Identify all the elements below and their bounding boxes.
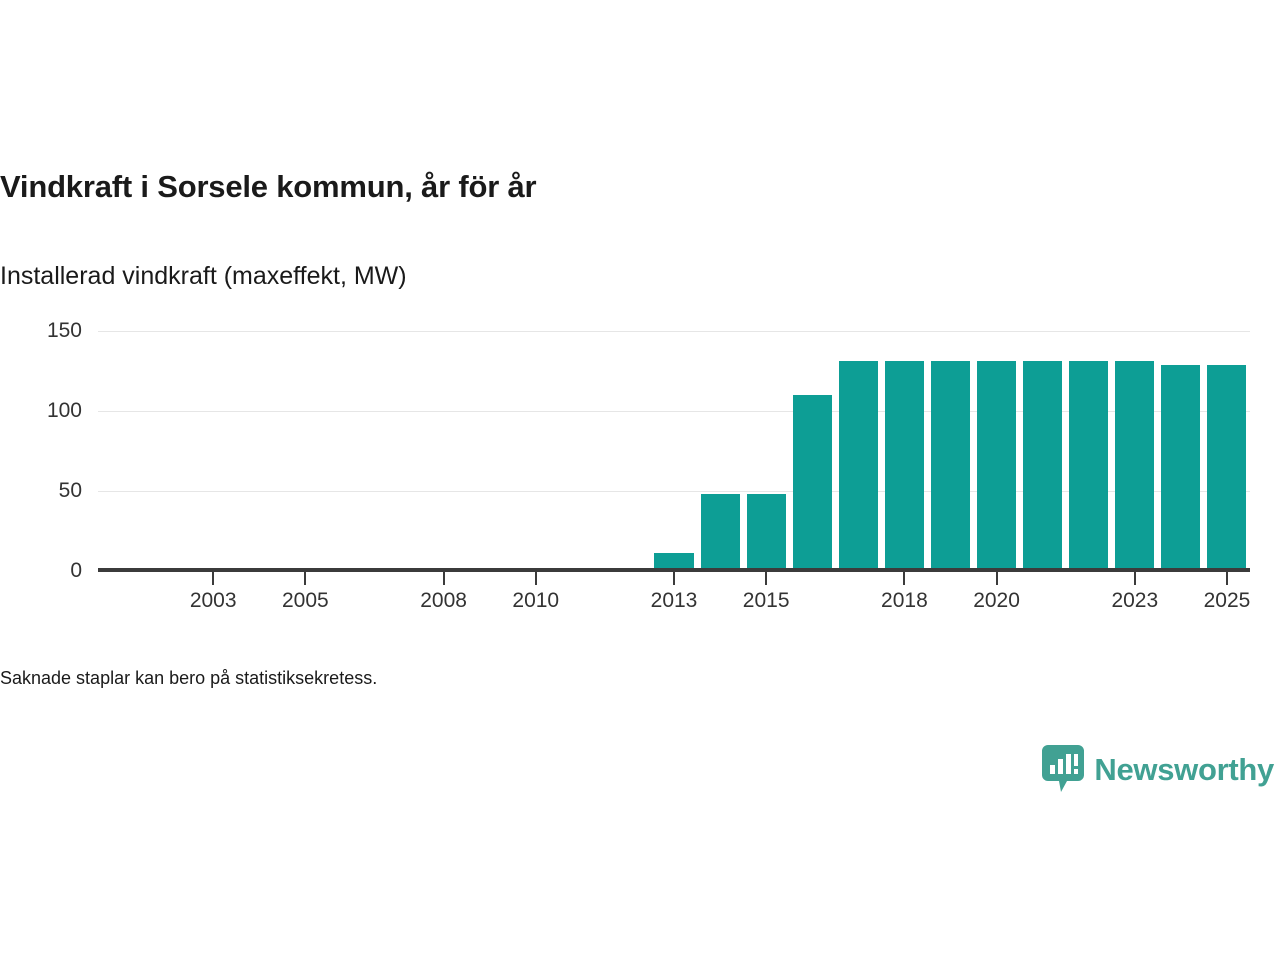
x-axis-tick-2005 [304,572,306,585]
bar-series [98,331,1250,571]
plot-area [98,331,1250,571]
x-axis-tick-label-2020: 2020 [973,588,1020,613]
x-axis-tick-label-2015: 2015 [743,588,790,613]
x-axis-tick-label-2003: 2003 [190,588,237,613]
bar-2022[interactable] [1069,361,1108,571]
x-axis-tick-label-2025: 2025 [1204,588,1251,613]
chart-page: Vindkraft i Sorsele kommun, år för år In… [0,0,1280,960]
bar-2014[interactable] [701,494,740,571]
y-axis-tick-label: 0 [0,560,82,581]
newsworthy-logo[interactable]: Newsworthy [1042,745,1274,793]
bar-2016[interactable] [793,395,832,571]
x-axis-tick-2010 [535,572,537,585]
x-axis-tick-2015 [765,572,767,585]
bar-2023[interactable] [1115,361,1154,571]
x-axis-tick-2003 [212,572,214,585]
bar-2021[interactable] [1023,361,1062,571]
bar-2017[interactable] [839,361,878,571]
x-axis-tick-label-2010: 2010 [512,588,559,613]
x-axis-tick-label-2013: 2013 [651,588,698,613]
x-axis-tick-2008 [443,572,445,585]
x-axis-tick-label-2023: 2023 [1111,588,1158,613]
bar-2025[interactable] [1207,365,1246,571]
x-axis-tick-2020 [996,572,998,585]
x-axis-tick-label-2008: 2008 [420,588,467,613]
x-axis-tick-2013 [673,572,675,585]
x-axis-tick-label-2005: 2005 [282,588,329,613]
bar-chart-speech-bubble-icon [1042,745,1084,793]
bar-chart: 050100150 200320052008201020132015201820… [0,315,1280,635]
bar-2024[interactable] [1161,365,1200,571]
page-title: Vindkraft i Sorsele kommun, år för år [0,168,536,205]
x-axis-tick-2025 [1226,572,1228,585]
x-axis-tick-label-2018: 2018 [881,588,928,613]
x-axis-tick-2018 [903,572,905,585]
y-axis-tick-label: 100 [0,400,82,421]
bar-2018[interactable] [885,361,924,571]
y-axis-tick-label: 150 [0,320,82,341]
chart-subtitle: Installerad vindkraft (maxeffekt, MW) [0,261,407,291]
bar-2015[interactable] [747,494,786,571]
y-axis-tick-label: 50 [0,480,82,501]
logo-wordmark: Newsworthy [1094,754,1274,785]
chart-footnote: Saknade staplar kan bero på statistiksek… [0,668,377,689]
bar-2019[interactable] [931,361,970,571]
bar-2020[interactable] [977,361,1016,571]
x-axis-tick-2023 [1134,572,1136,585]
